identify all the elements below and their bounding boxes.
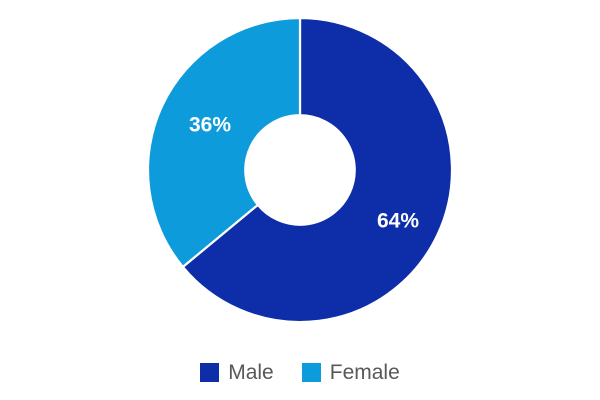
- legend-swatch-female-icon: [302, 363, 321, 382]
- legend-item-male[interactable]: Male: [200, 362, 274, 383]
- legend-item-female[interactable]: Female: [302, 362, 400, 383]
- chart-legend: Male Female: [0, 345, 600, 400]
- slice-label-male: 64%: [377, 210, 419, 233]
- chart-page: 64% 36% Male Female: [0, 0, 600, 400]
- legend-label-male: Male: [228, 362, 274, 383]
- slice-label-female: 36%: [189, 114, 231, 137]
- donut-chart-svg: 64% 36%: [0, 0, 600, 345]
- legend-swatch-male-icon: [200, 363, 219, 382]
- legend-label-female: Female: [330, 362, 400, 383]
- donut-chart: 64% 36%: [0, 0, 600, 345]
